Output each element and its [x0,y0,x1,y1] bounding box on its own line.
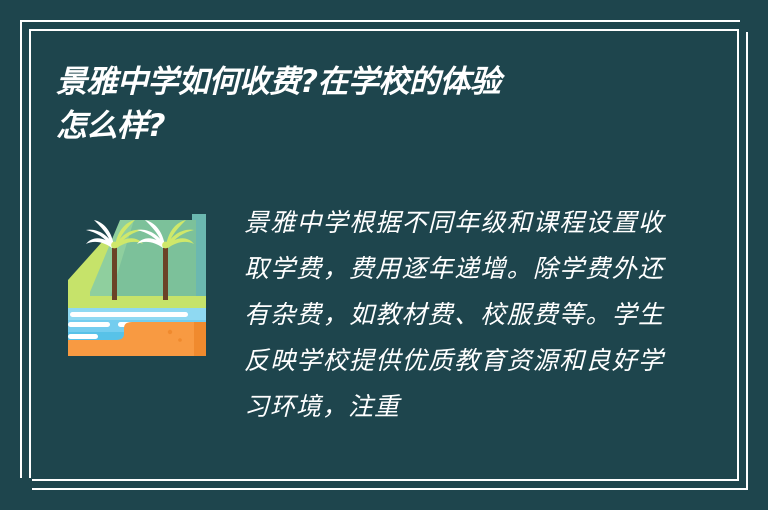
page-title-line-2: 怎么样? [56,104,676,148]
frame-corner-mask-top-right [740,18,752,32]
beach-palm-trees-icon [68,208,206,356]
page-title: 景雅中学如何收费?在学校的体验 怎么样? [56,60,676,148]
article-content: 景雅中学根据不同年级和课程设置收取学费，费用逐年递增。除学费外还有杂费，如教材费… [56,200,712,430]
article-body: 景雅中学根据不同年级和课程设置收取学费，费用逐年递增。除学费外还有杂费，如教材费… [244,200,664,430]
beach-illustration [68,208,206,356]
page-title-line-1: 景雅中学如何收费?在学校的体验 [56,60,676,104]
article-poster: 景雅中学如何收费?在学校的体验 怎么样? [0,0,768,510]
frame-corner-mask-bottom-left [18,478,32,492]
